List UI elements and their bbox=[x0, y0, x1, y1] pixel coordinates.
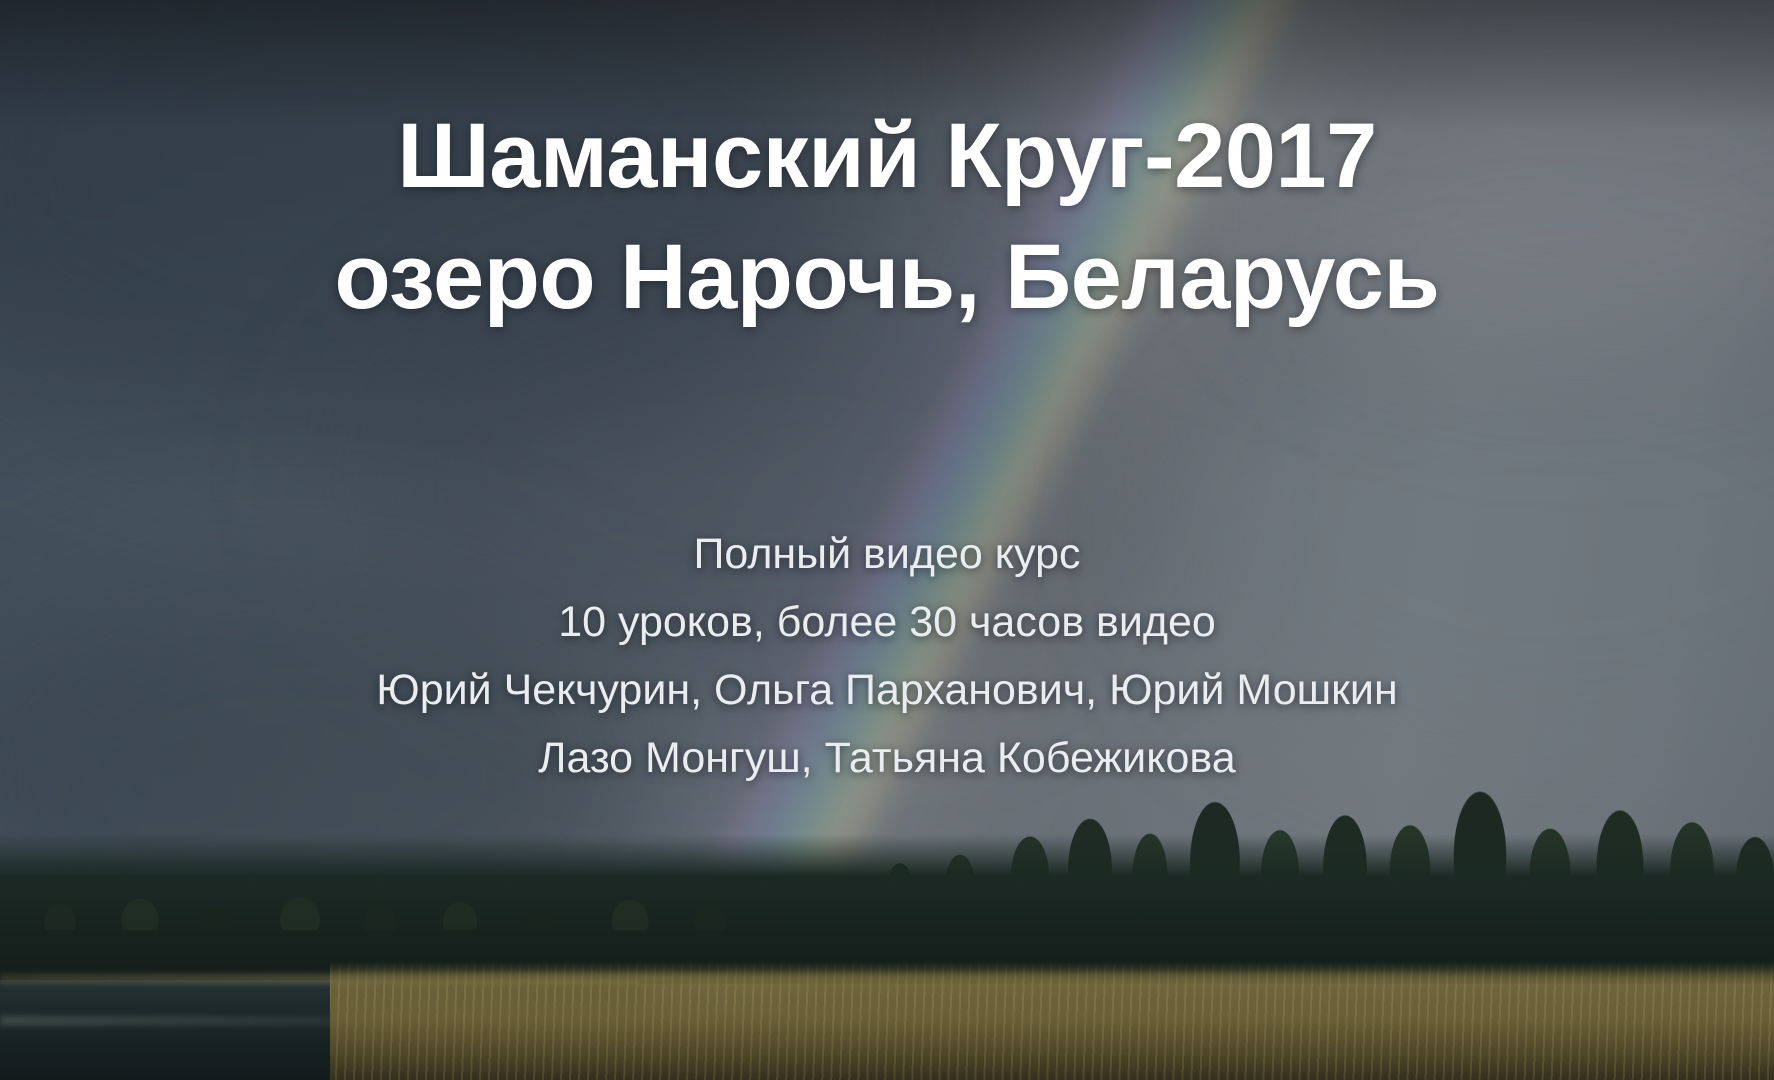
subtitle-course-format: Полный видео курс bbox=[376, 521, 1397, 589]
subtitle-presenters-line-1: Юрий Чекчурин, Ольга Парханович, Юрий Мо… bbox=[376, 657, 1397, 725]
subtitle-course-volume: 10 уроков, более 30 часов видео bbox=[376, 589, 1397, 657]
page-title: Шаманский Круг-2017 озеро Нарочь, Белару… bbox=[335, 96, 1440, 339]
title-line-1: Шаманский Круг-2017 bbox=[335, 96, 1440, 217]
course-promo-banner: Шаманский Круг-2017 озеро Нарочь, Белару… bbox=[0, 0, 1774, 1080]
banner-subtitle: Полный видео курс 10 уроков, более 30 ча… bbox=[376, 521, 1397, 793]
subtitle-presenters-line-2: Лазо Монгуш, Татьяна Кобежикова bbox=[376, 725, 1397, 793]
title-line-2: озеро Нарочь, Беларусь bbox=[335, 217, 1440, 338]
banner-content: Шаманский Круг-2017 озеро Нарочь, Белару… bbox=[0, 0, 1774, 1080]
